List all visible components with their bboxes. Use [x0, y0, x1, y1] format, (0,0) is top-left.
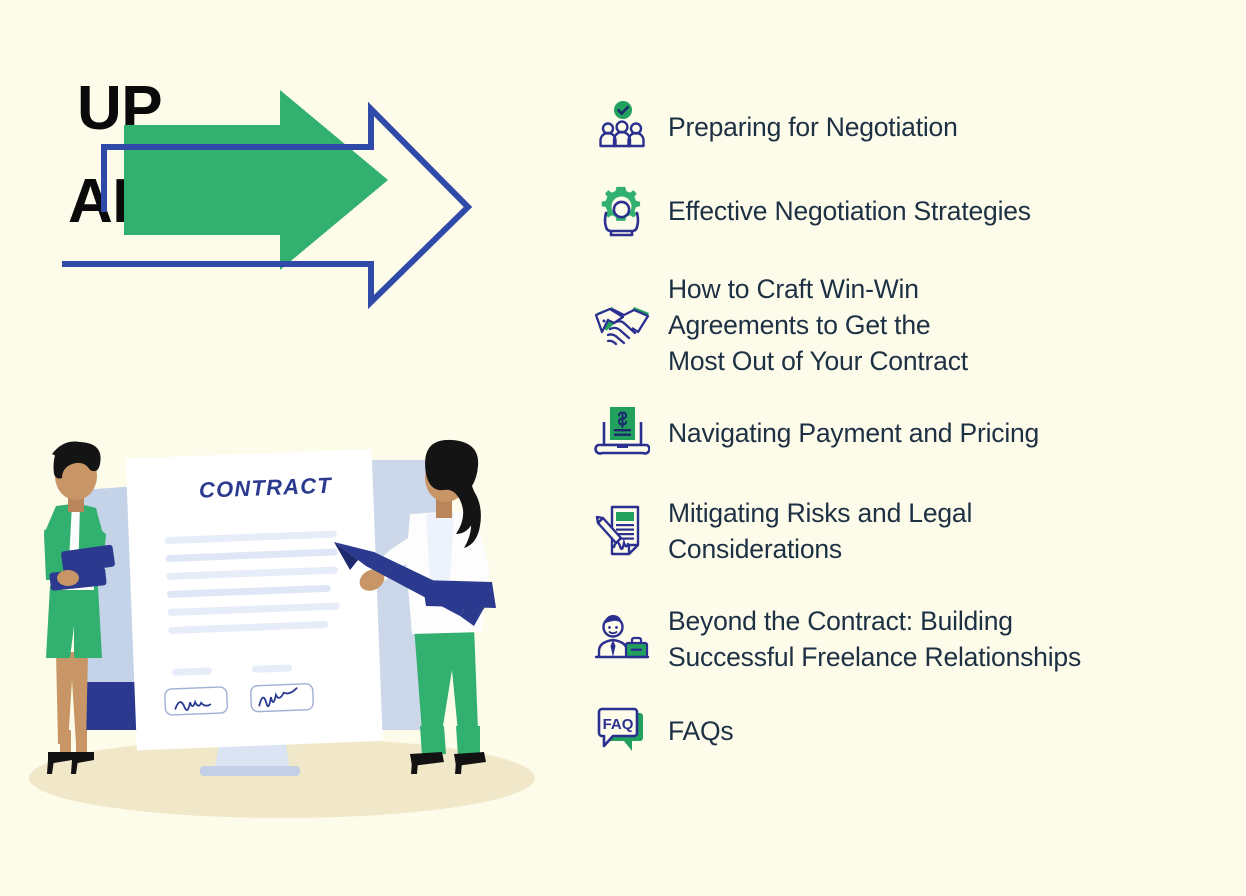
agenda-item-beyond-the-contract[interactable]: Beyond the Contract: Building Successful… [594, 596, 1224, 682]
person-gear-strategy-icon [594, 180, 668, 242]
agenda-item-navigating-payment-and-pricing[interactable]: Navigating Payment and Pricing [594, 402, 1224, 464]
leg [60, 730, 71, 752]
contract-signing-illustration: CONTRACT [22, 430, 542, 830]
hand [57, 570, 79, 586]
agenda-item-label: Navigating Payment and Pricing [668, 415, 1039, 451]
skirt [46, 586, 102, 658]
agenda-item-label: FAQs [668, 713, 733, 749]
trousers [414, 626, 478, 732]
trouser-leg [456, 726, 480, 756]
agenda-item-mitigating-risks-and-legal[interactable]: Mitigating Risks and Legal Consideration… [594, 488, 1224, 574]
shoe-heel [455, 762, 462, 774]
agenda-item-label: Beyond the Contract: Building Successful… [668, 603, 1081, 675]
agenda-item-faqs[interactable]: FAQ FAQs [594, 700, 1224, 762]
monitor-base [200, 766, 300, 776]
svg-text:FAQ: FAQ [603, 716, 634, 733]
shoe-heel [411, 762, 418, 774]
arrow-green-fill [124, 90, 388, 270]
trouser-leg [420, 726, 446, 756]
document-pen-signature-icon [594, 500, 668, 562]
leg [76, 730, 87, 752]
agenda-item-label: Preparing for Negotiation [668, 109, 958, 145]
laptop-invoice-dollar-icon [594, 402, 668, 464]
heading-block: UP AHEAD [0, 0, 560, 320]
contract-title: CONTRACT [199, 473, 333, 503]
blazer-inner [426, 512, 454, 580]
agenda-item-label: Effective Negotiation Strategies [668, 193, 1031, 229]
people-group-check-icon [594, 96, 668, 158]
agenda-list: Preparing for Negotiation Effective Nego… [594, 96, 1224, 762]
slide-canvas: UP AHEAD CONTRACT [0, 0, 1246, 896]
right-arrow-icon [48, 80, 518, 315]
businessman-briefcase-icon [594, 608, 668, 670]
agenda-item-label: Mitigating Risks and Legal Consideration… [668, 495, 972, 567]
agenda-item-label: How to Craft Win-Win Agreements to Get t… [668, 271, 968, 379]
faq-speech-bubble-icon: FAQ [594, 700, 668, 762]
agenda-item-win-win-agreements[interactable]: How to Craft Win-Win Agreements to Get t… [594, 270, 1224, 380]
contract-page: CONTRACT [126, 449, 383, 750]
agenda-item-preparing-for-negotiation[interactable]: Preparing for Negotiation [594, 96, 1224, 158]
handshake-icon [594, 294, 668, 356]
agenda-item-effective-negotiation-strategies[interactable]: Effective Negotiation Strategies [594, 180, 1224, 242]
